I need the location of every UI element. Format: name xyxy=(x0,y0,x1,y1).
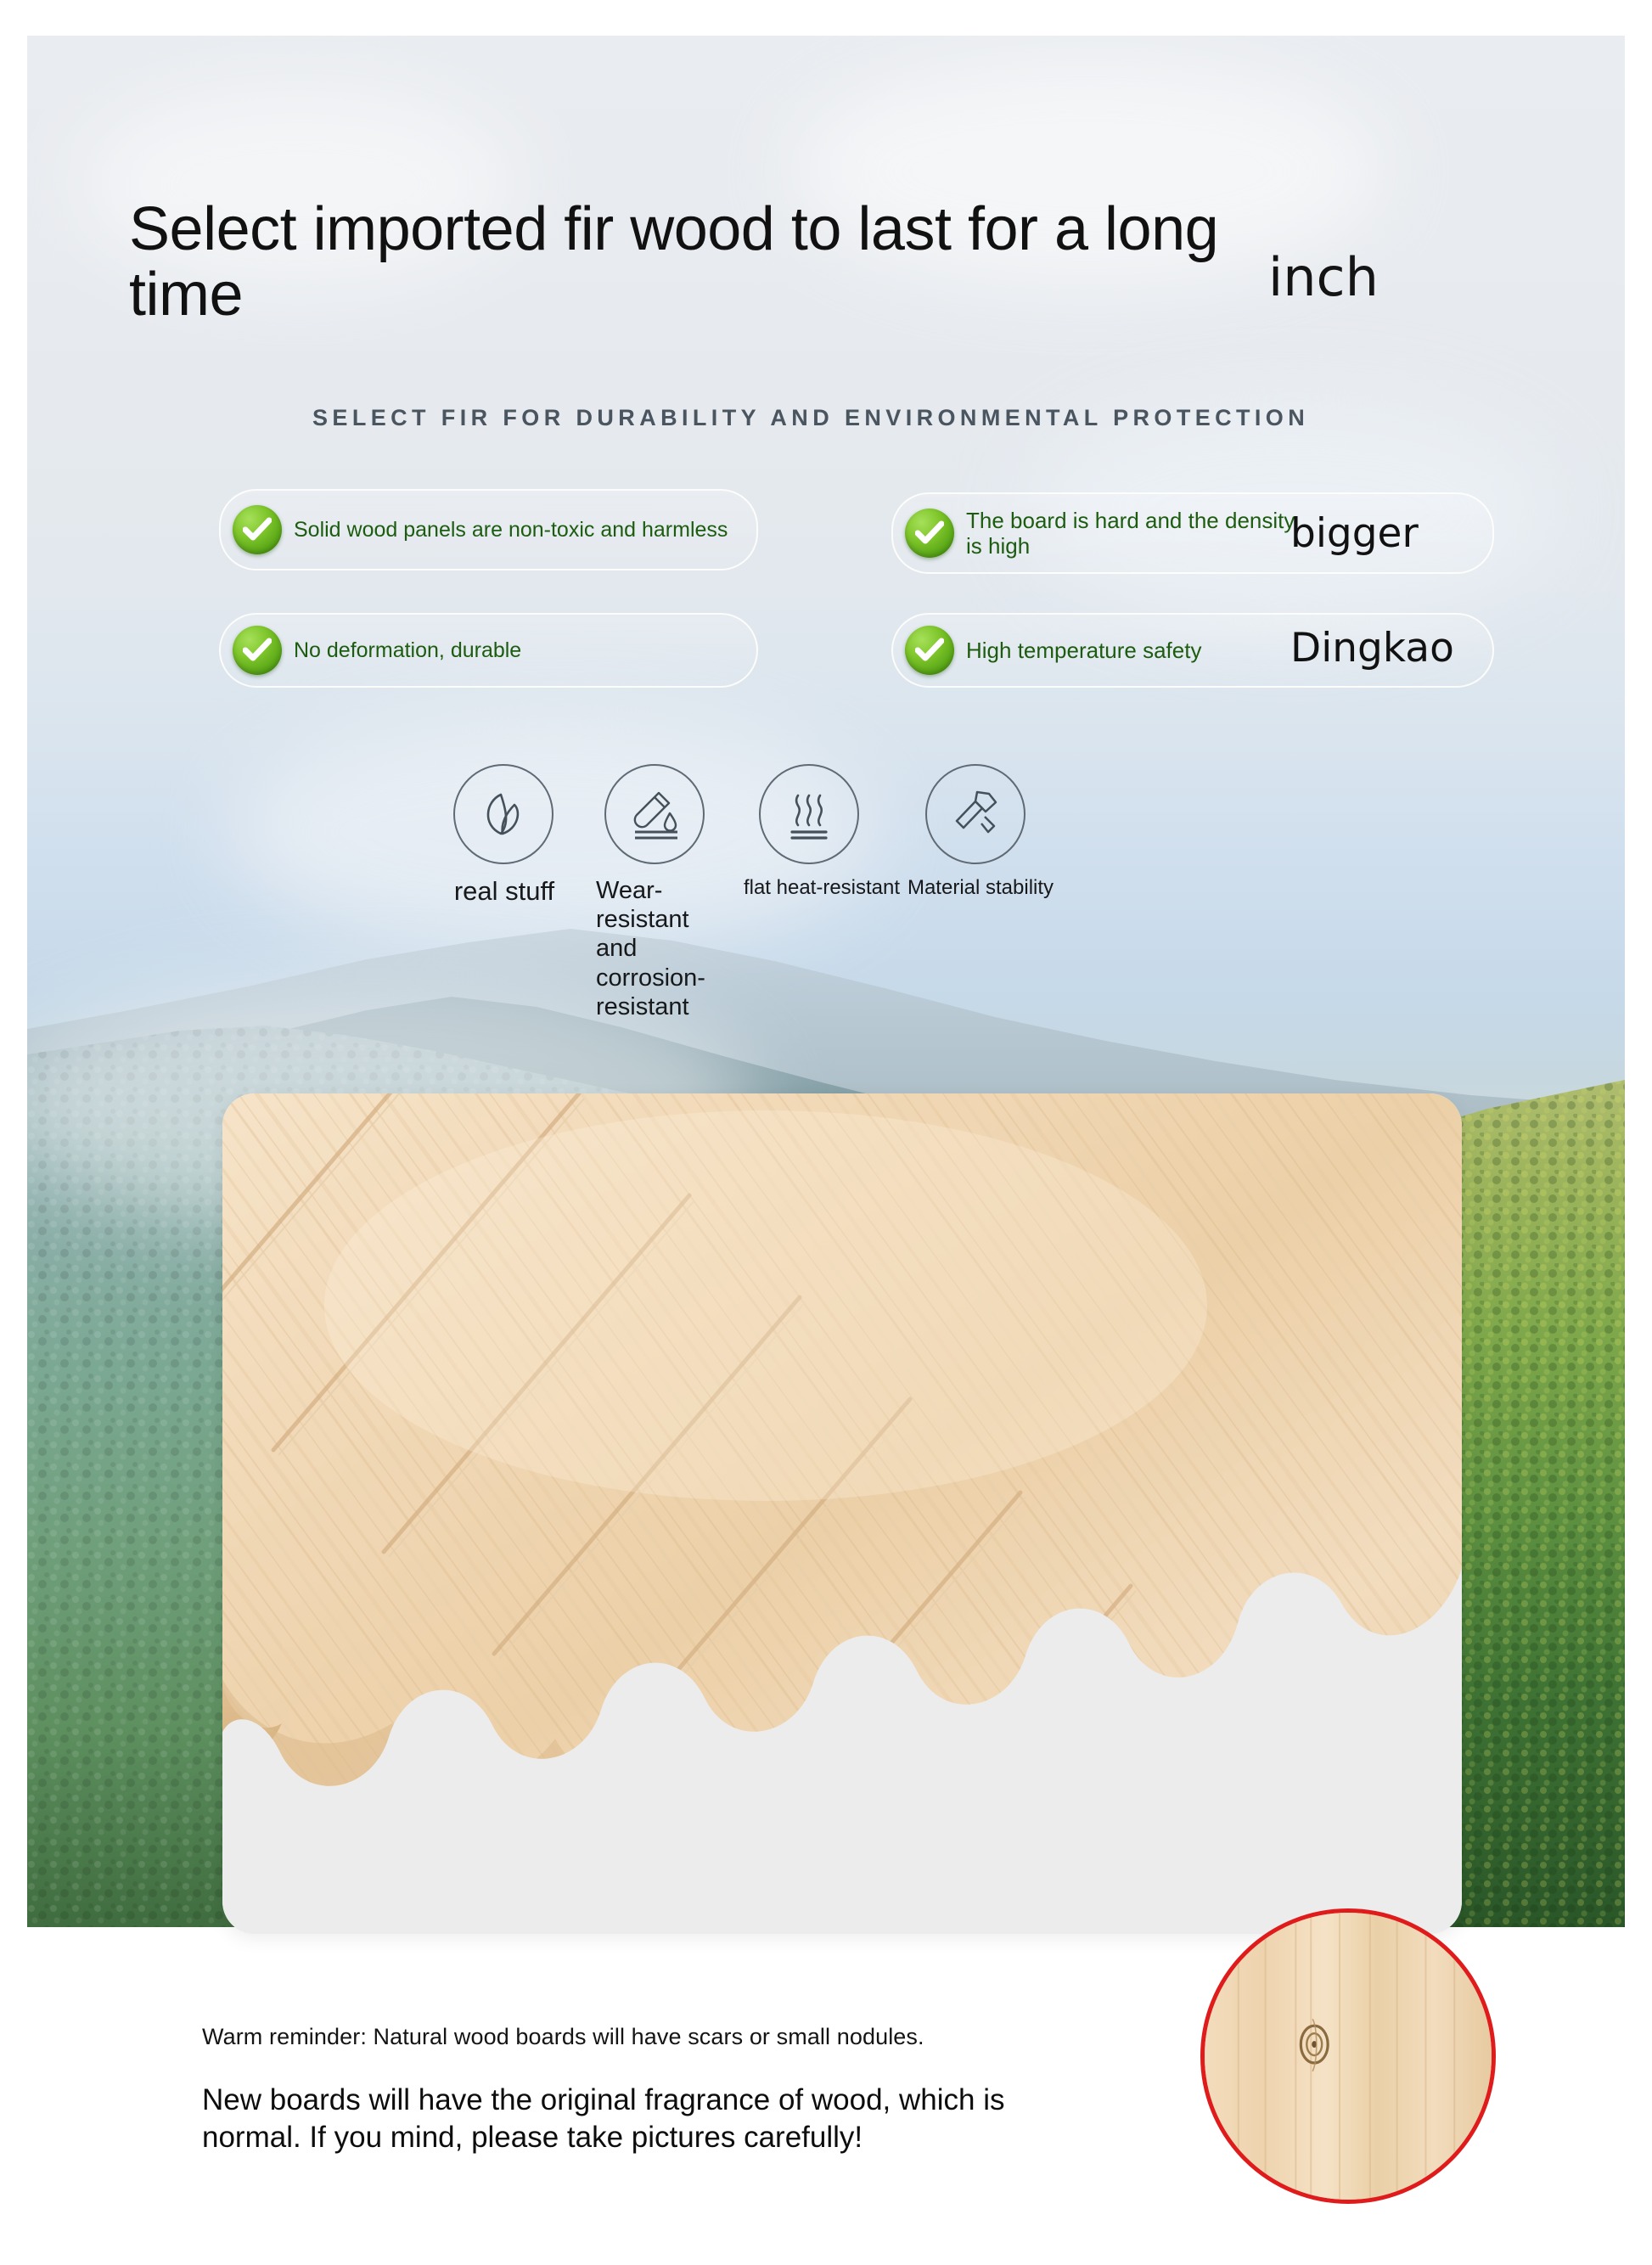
fragrance-note-text: New boards will have the original fragra… xyxy=(202,2082,1085,2156)
benefit-item-material-stability: Material stability xyxy=(900,764,1061,900)
product-detail-page: Select imported fir wood to last for a l… xyxy=(0,0,1652,2265)
overlay-word-bigger: bigger xyxy=(1290,510,1419,557)
benefit-item-heat-resistant: flat heat-resistant xyxy=(737,764,907,900)
check-circle-icon xyxy=(905,509,954,558)
benefit-item-label: flat heat-resistant xyxy=(737,876,907,900)
benefit-item-label: real stuff xyxy=(431,876,577,907)
feature-pill-label: The board is hard and the density is hig… xyxy=(966,508,1307,559)
wood-knot-detail-callout xyxy=(1200,1908,1496,2204)
headline-badge-inch: inch xyxy=(1268,246,1379,308)
heat-waves-icon xyxy=(759,764,859,864)
leaves-icon xyxy=(453,764,553,864)
benefit-item-label: Material stability xyxy=(900,876,1061,900)
benefit-item-wear-resistant: Wear-resistant and corrosion-resistant xyxy=(593,764,730,1021)
page-subtitle: SELECT FIR FOR DURABILITY AND ENVIRONMEN… xyxy=(312,405,1309,431)
benefit-item-label: Wear-resistant and corrosion-resistant xyxy=(593,876,730,1021)
page-title: Select imported fir wood to last for a l… xyxy=(129,197,1250,328)
overlay-word-dingkao: Dingkao xyxy=(1290,625,1454,672)
check-circle-icon xyxy=(905,626,954,675)
check-circle-icon xyxy=(233,505,282,554)
test-tube-droplet-icon xyxy=(604,764,705,864)
warm-reminder-text: Warm reminder: Natural wood boards will … xyxy=(202,2024,924,2050)
scalloped-wood-board-image xyxy=(222,1093,1462,1934)
check-circle-icon xyxy=(233,626,282,675)
product-photo xyxy=(222,1093,1462,1934)
hammer-icon xyxy=(925,764,1025,864)
feature-pill-non-toxic: Solid wood panels are non-toxic and harm… xyxy=(219,489,758,570)
feature-pill-label: Solid wood panels are non-toxic and harm… xyxy=(294,517,738,543)
feature-pill-no-deformation: No deformation, durable xyxy=(219,613,758,688)
benefit-item-real-stuff: real stuff xyxy=(441,764,577,907)
feature-pill-label: High temperature safety xyxy=(966,638,1211,663)
feature-pill-label: No deformation, durable xyxy=(294,638,531,664)
benefit-icon-row: real stuff Wear-resistant and corrosion-… xyxy=(441,764,1290,1019)
